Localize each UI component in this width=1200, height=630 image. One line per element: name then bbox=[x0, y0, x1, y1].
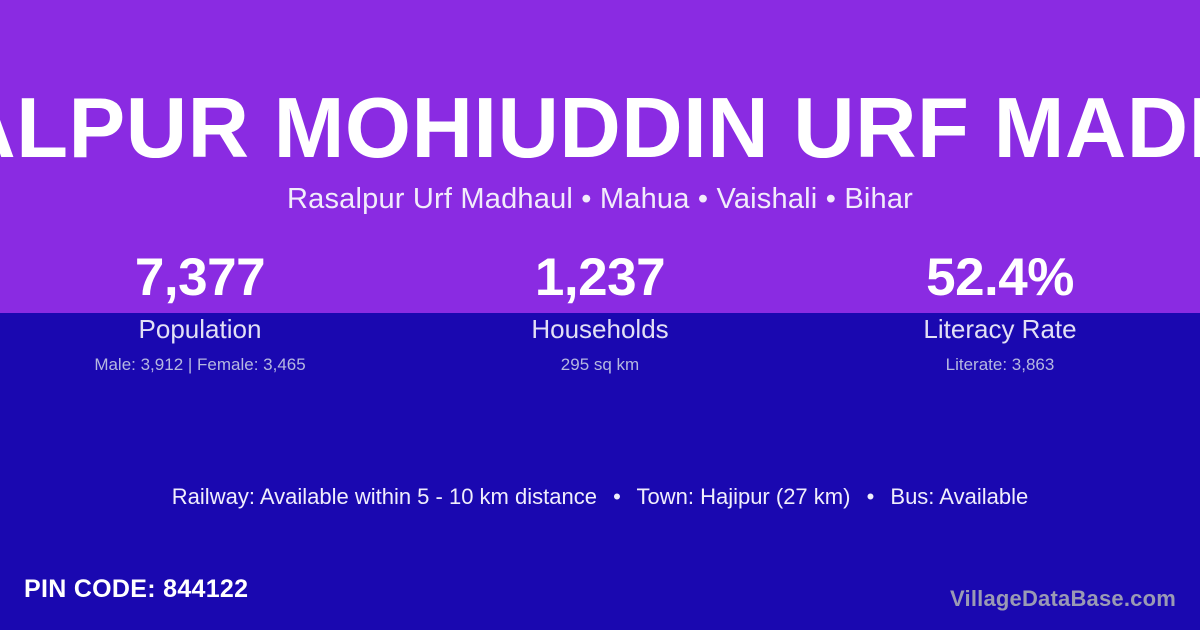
stats-row: 7,377 Population Male: 3,912 | Female: 3… bbox=[0, 247, 1200, 377]
info-bus: Bus: Available bbox=[890, 484, 1028, 509]
stat-label: Households bbox=[400, 312, 800, 346]
stat-value: 1,237 bbox=[400, 247, 800, 309]
info-separator: • bbox=[857, 484, 885, 509]
stat-literacy-rate: 52.4% Literacy Rate Literate: 3,863 bbox=[800, 247, 1200, 377]
stat-value: 52.4% bbox=[800, 247, 1200, 309]
pin-code: PIN CODE: 844122 bbox=[24, 575, 248, 604]
stat-sublabel: 295 sq km bbox=[400, 353, 800, 377]
info-separator: • bbox=[603, 484, 631, 509]
page-title-row: RASALPUR MOHIUDDIN URF MADHAUL bbox=[0, 82, 1200, 174]
stat-value: 7,377 bbox=[0, 247, 400, 309]
breadcrumb: Rasalpur Urf Madhaul • Mahua • Vaishali … bbox=[0, 183, 1200, 216]
brand-watermark: VillageDataBase.com bbox=[950, 586, 1176, 612]
stat-label: Literacy Rate bbox=[800, 312, 1200, 346]
village-info-card: RASALPUR MOHIUDDIN URF MADHAUL Rasalpur … bbox=[0, 0, 1200, 630]
page-title: RASALPUR MOHIUDDIN URF MADHAUL bbox=[0, 86, 1200, 171]
info-railway: Railway: Available within 5 - 10 km dist… bbox=[172, 484, 597, 509]
stat-population: 7,377 Population Male: 3,912 | Female: 3… bbox=[0, 247, 400, 377]
stat-sublabel: Literate: 3,863 bbox=[800, 353, 1200, 377]
stat-sublabel: Male: 3,912 | Female: 3,465 bbox=[0, 353, 400, 377]
stat-households: 1,237 Households 295 sq km bbox=[400, 247, 800, 377]
amenities-info-line: Railway: Available within 5 - 10 km dist… bbox=[0, 484, 1200, 510]
info-town: Town: Hajipur (27 km) bbox=[636, 484, 850, 509]
stat-label: Population bbox=[0, 312, 400, 346]
